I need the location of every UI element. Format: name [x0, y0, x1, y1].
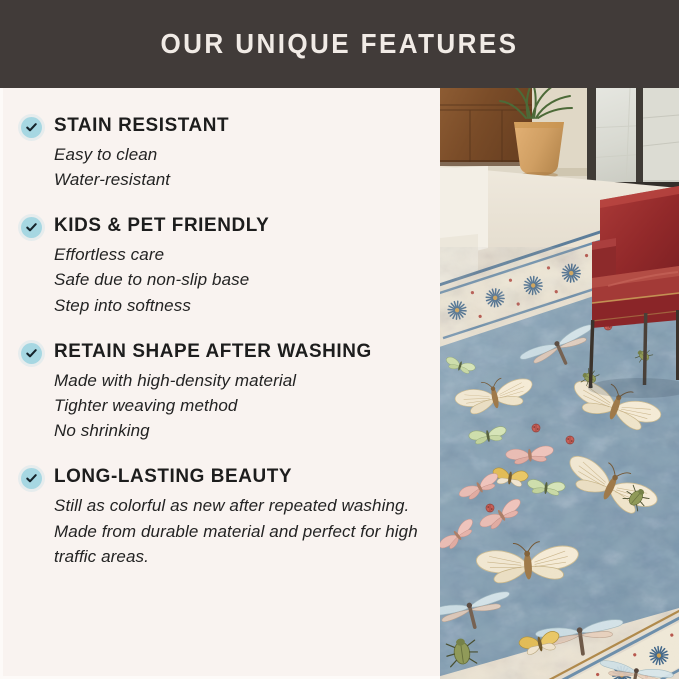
feature-line: Safe due to non-slip base — [54, 267, 430, 292]
feature-line: Step into softness — [54, 293, 430, 318]
check-circle-icon — [21, 468, 42, 489]
feature-body: KIDS & PET FRIENDLY Effortless care Safe… — [54, 214, 430, 317]
feature-item: LONG-LASTING BEAUTY Still as colorful as… — [21, 465, 430, 570]
feature-paragraph: Still as colorful as new after repeated … — [54, 493, 430, 570]
check-circle-icon — [21, 343, 42, 364]
feature-title: LONG-LASTING BEAUTY — [54, 465, 419, 488]
feature-item: STAIN RESISTANT Easy to clean Water-resi… — [21, 114, 430, 192]
check-circle-icon — [21, 217, 42, 238]
feature-line: Easy to clean — [54, 142, 430, 167]
content-area: STAIN RESISTANT Easy to clean Water-resi… — [0, 88, 679, 679]
feature-item: KIDS & PET FRIENDLY Effortless care Safe… — [21, 214, 430, 317]
feature-body: RETAIN SHAPE AFTER WASHING Made with hig… — [54, 340, 430, 443]
feature-title: STAIN RESISTANT — [54, 114, 419, 137]
page-title: OUR UNIQUE FEATURES — [161, 28, 519, 60]
feature-title: RETAIN SHAPE AFTER WASHING — [54, 340, 419, 363]
product-photo — [440, 88, 679, 679]
feature-item: RETAIN SHAPE AFTER WASHING Made with hig… — [21, 340, 430, 443]
header-band: OUR UNIQUE FEATURES — [0, 0, 679, 88]
feature-body: STAIN RESISTANT Easy to clean Water-resi… — [54, 114, 430, 192]
feature-line: Tighter weaving method — [54, 393, 430, 418]
feature-body: LONG-LASTING BEAUTY Still as colorful as… — [54, 465, 430, 570]
check-circle-icon — [21, 117, 42, 138]
patio-door — [587, 88, 679, 190]
features-infographic: OUR UNIQUE FEATURES STAIN RESISTANT Easy… — [0, 0, 679, 679]
feature-line: Water-resistant — [54, 167, 430, 192]
feature-line: Effortless care — [54, 242, 430, 267]
feature-title: KIDS & PET FRIENDLY — [54, 214, 419, 237]
feature-line: Made with high-density material — [54, 368, 430, 393]
features-panel: STAIN RESISTANT Easy to clean Water-resi… — [0, 88, 440, 679]
feature-line: No shrinking — [54, 418, 430, 443]
